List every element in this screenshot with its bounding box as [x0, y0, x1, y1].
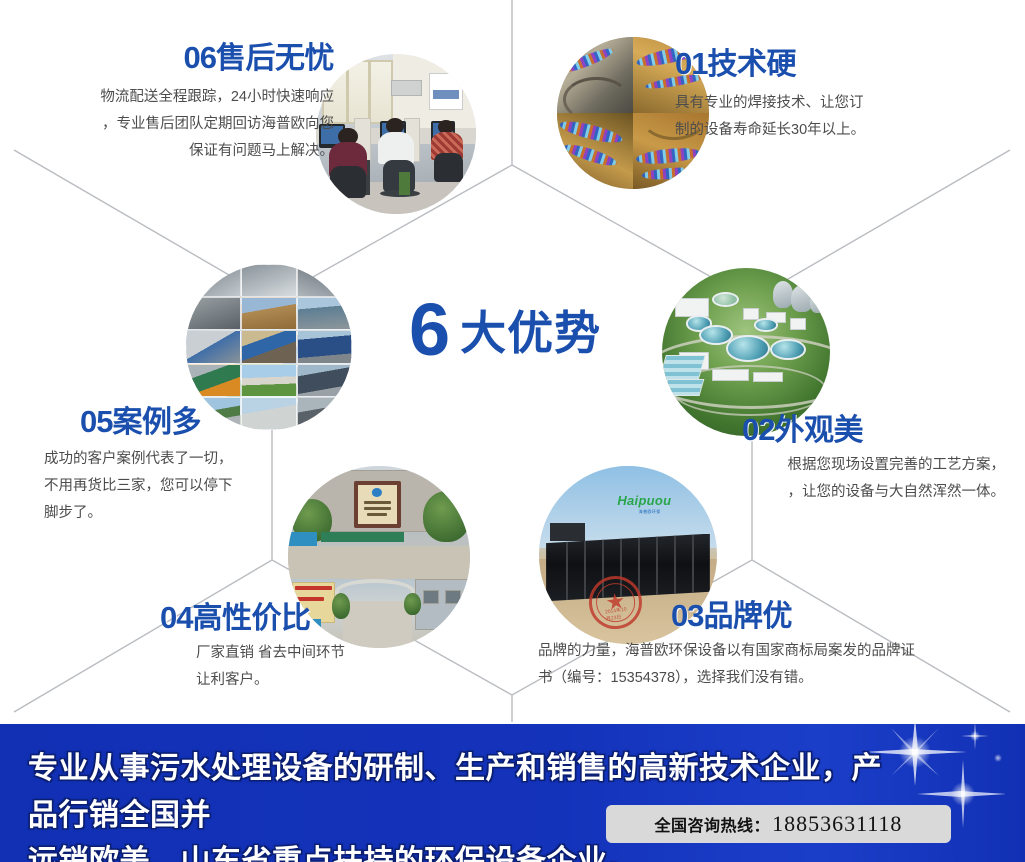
advantage-02: 02外观美 根据您现场设置完善的工艺方案， ，让您的设备与大自然浑然一体。	[680, 414, 1005, 506]
advantage-03-body: 品牌的力量，海普欧环保设备以有国家商标局案发的品牌证 书（编号：15354378…	[538, 638, 1008, 692]
aerial-plant-photo	[662, 268, 830, 436]
advantages-infographic: Haipuou 海普欧环保 ★ 2014年10月23日	[0, 0, 1025, 862]
office-team-photo	[316, 54, 476, 214]
advantage-04-heading: 04高性价比	[160, 602, 460, 634]
advantage-01-body: 具有专业的焊接技术、让您订 制的设备寿命延长30年以上。	[675, 90, 1005, 144]
advantage-05-heading: 05案例多	[44, 406, 344, 438]
haipuou-logo: Haipuou	[617, 493, 671, 508]
advantage-01-heading: 01技术硬	[675, 48, 1005, 80]
advantage-04-title: 高性价比	[192, 602, 310, 635]
advantage-04-body: 厂家直销 省去中间环节 让利客户。	[160, 640, 460, 694]
advantage-02-number: 02	[742, 412, 774, 447]
advantage-02-heading: 02外观美	[680, 414, 1005, 446]
haipuou-logo-text: Haipuou	[617, 493, 671, 508]
advantage-05-body: 成功的客户案例代表了一切， 不用再货比三家，您可以停下 脚步了。	[44, 446, 344, 526]
advantage-02-title: 外观美	[774, 414, 863, 447]
center-title-label: 大优势	[460, 307, 601, 359]
advantage-01: 01技术硬 具有专业的焊接技术、让您订 制的设备寿命延长30年以上。	[675, 48, 1005, 144]
advantage-04-number: 04	[160, 600, 192, 635]
advantage-03-number: 03	[671, 598, 703, 633]
advantage-06-title: 售后无忧	[216, 42, 334, 75]
advantage-03-title: 品牌优	[703, 600, 792, 633]
advantage-06-body: 物流配送全程跟踪，24小时快速响应 ，专业售后团队定期回访海普欧向您 保证有问题…	[12, 84, 334, 164]
hotline-box[interactable]: 全国咨询热线： 18853631118	[606, 805, 951, 843]
advantage-02-body: 根据您现场设置完善的工艺方案， ，让您的设备与大自然浑然一体。	[680, 452, 1005, 506]
advantage-01-number: 01	[675, 46, 707, 81]
advantage-05-number: 05	[80, 404, 112, 439]
advantage-04: 04高性价比 厂家直销 省去中间环节 让利客户。	[160, 602, 460, 694]
advantage-06-heading: 06售后无忧	[12, 42, 334, 74]
advantage-03-heading: 03品牌优	[538, 600, 1008, 632]
advantage-05: 05案例多 成功的客户案例代表了一切， 不用再货比三家，您可以停下 脚步了。	[44, 406, 344, 526]
advantage-06-number: 06	[184, 40, 216, 75]
advantage-01-title: 技术硬	[707, 48, 796, 81]
banner-slogan: 专业从事污水处理设备的研制、生产和销售的高新技术企业，产品行销全国并 远销欧美，…	[28, 746, 908, 862]
advantage-06: 06售后无忧 物流配送全程跟踪，24小时快速响应 ，专业售后团队定期回访海普欧向…	[12, 42, 334, 164]
advantage-05-title: 案例多	[112, 406, 201, 439]
hotline-label: 全国咨询热线：	[655, 812, 771, 836]
center-title-number: 6	[409, 288, 450, 371]
center-title: 6大优势	[409, 293, 601, 367]
advantage-03: 03品牌优 品牌的力量，海普欧环保设备以有国家商标局案发的品牌证 书（编号：15…	[538, 600, 1008, 692]
hotline-number: 18853631118	[772, 811, 902, 837]
haipuou-logo-sub: 海普欧环保	[639, 509, 661, 515]
